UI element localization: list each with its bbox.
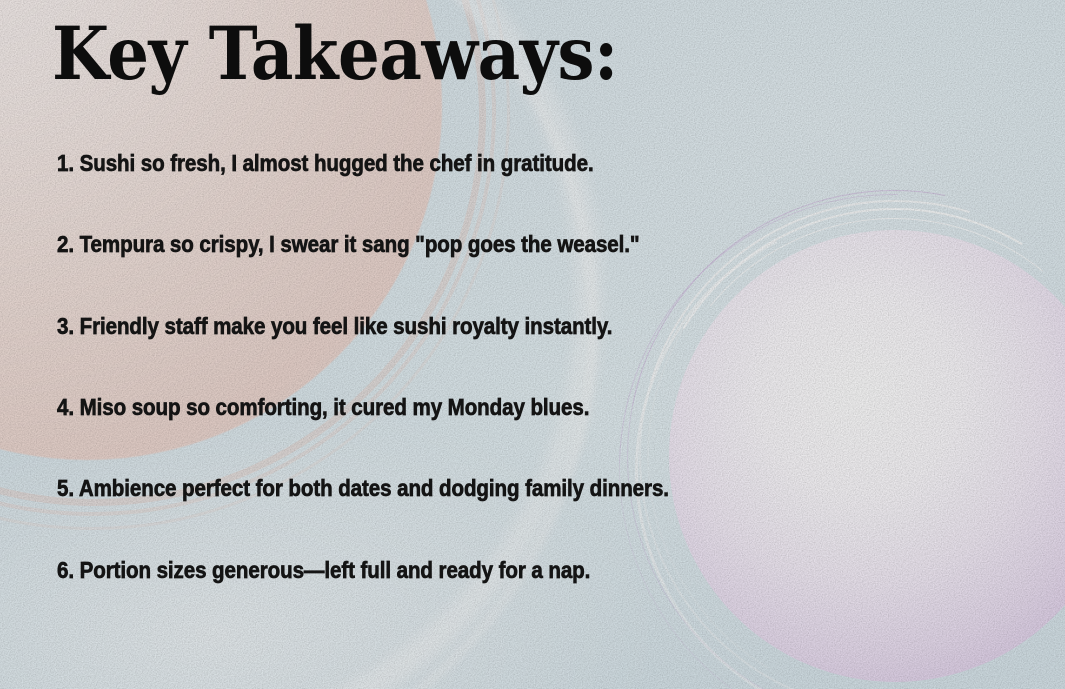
content-layer: Key Takeaways: 1. Sushi so fresh, I almo…: [0, 0, 1065, 689]
takeaway-item-6: 6. Portion sizes generous—left full and …: [57, 558, 827, 584]
takeaway-item-3: 3. Friendly staff make you feel like sus…: [57, 314, 827, 340]
takeaway-item-4: 4. Miso soup so comforting, it cured my …: [57, 395, 827, 421]
takeaway-item-2: 2. Tempura so crispy, I swear it sang "p…: [57, 232, 827, 258]
takeaways-list: 1. Sushi so fresh, I almost hugged the c…: [57, 151, 937, 584]
takeaway-item-1: 1. Sushi so fresh, I almost hugged the c…: [57, 151, 827, 177]
key-takeaways-graphic: Key Takeaways: 1. Sushi so fresh, I almo…: [0, 0, 1065, 689]
takeaway-item-5: 5. Ambience perfect for both dates and d…: [57, 476, 827, 502]
page-title: Key Takeaways:: [52, 16, 618, 93]
